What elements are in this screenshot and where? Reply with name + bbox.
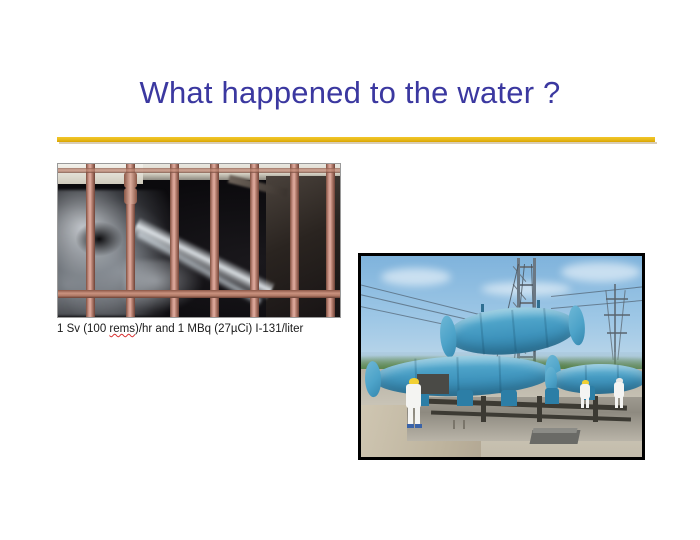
caption-text-before: 1 Sv (100 xyxy=(57,323,109,335)
worker-leg xyxy=(581,398,584,408)
cloud xyxy=(381,268,451,286)
slide-canvas: What happened to the water ? 1 Sv (100 r… xyxy=(0,0,700,540)
worker-leg xyxy=(586,398,589,408)
protective-suit xyxy=(614,382,624,398)
worker-right xyxy=(613,378,625,410)
worker-boot xyxy=(415,424,422,428)
survey-marker xyxy=(453,420,455,429)
rebar-crossbar xyxy=(57,168,341,173)
worker-foreground xyxy=(405,378,423,430)
page-title: What happened to the water ? xyxy=(0,74,700,112)
caption-misspelled-word: rems xyxy=(109,323,135,335)
tank-seam xyxy=(498,356,501,394)
tank-seam xyxy=(511,310,517,352)
rebar-coupler xyxy=(124,172,137,188)
concrete-block-pallet xyxy=(532,428,577,433)
tank-saddle xyxy=(501,390,517,406)
water-photo-caption: 1 Sv (100 rems)/hr and 1 MBq (27µCi) I-1… xyxy=(57,322,347,337)
water-spray-mist xyxy=(124,260,204,312)
worker-leg xyxy=(620,397,623,408)
lifting-lug xyxy=(481,304,484,312)
worker-mid xyxy=(579,380,591,410)
worker-leg xyxy=(415,407,420,425)
rebar-crossbar xyxy=(57,290,341,298)
protective-suit xyxy=(580,384,590,399)
worker-leg xyxy=(408,407,413,425)
worker-leg xyxy=(615,397,618,408)
worker-boot xyxy=(407,424,414,428)
tank-saddle xyxy=(545,388,559,404)
title-divider-rule xyxy=(57,137,655,142)
cloud xyxy=(561,262,641,282)
survey-marker xyxy=(463,420,465,429)
water-shadow xyxy=(76,222,122,256)
tank-seam xyxy=(543,308,548,348)
tank-saddle xyxy=(457,390,473,406)
rebar-coupler xyxy=(124,188,137,204)
steel-beam xyxy=(481,396,486,422)
steel-beam xyxy=(537,396,542,422)
caption-text-after: )/hr and 1 MBq (27µCi) I-131/liter xyxy=(135,323,303,335)
lifting-lug xyxy=(537,300,540,308)
protective-suit xyxy=(406,384,421,408)
water-storage-tanks-photo xyxy=(358,253,645,460)
tank-seam xyxy=(479,313,485,355)
water-discharge-photo xyxy=(57,163,341,318)
